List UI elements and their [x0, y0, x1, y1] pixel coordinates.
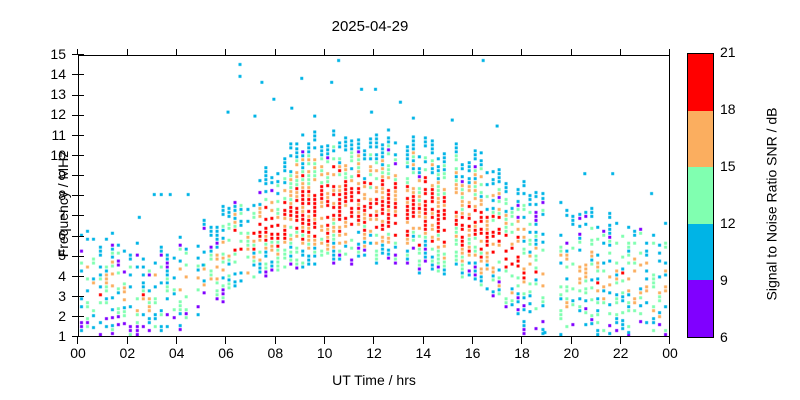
plot-area[interactable] [78, 55, 670, 337]
y-tick-mark-inner [78, 54, 84, 55]
y-tick-mark-inner [78, 195, 84, 196]
x-tick-mark [669, 337, 670, 344]
x-tick-label: 12 [354, 345, 394, 361]
y-tick-mark-inner [78, 135, 84, 136]
x-tick-label: 20 [551, 345, 591, 361]
colorbar-tick-label: 21 [720, 44, 746, 60]
y-tick-mark-inner [78, 115, 84, 116]
x-tick-mark [225, 337, 226, 344]
x-tick-mark [127, 337, 128, 344]
colorbar-band-orange [688, 111, 713, 168]
x-tick-mark [472, 337, 473, 344]
y-tick-mark-inner [78, 95, 84, 96]
x-tick-mark [176, 337, 177, 344]
scatter-data-layer [79, 56, 669, 336]
colorbar-label: Signal to Noise Ratio SNR / dB [764, 62, 780, 347]
x-tick-label: 02 [107, 345, 147, 361]
x-tick-mark [324, 337, 325, 344]
x-axis-label: UT Time / hrs [78, 372, 670, 388]
chart-title: 2025-04-29 [0, 18, 740, 35]
colorbar-band-purple [688, 280, 713, 337]
colorbar[interactable] [687, 53, 714, 338]
y-tick-mark-inner [78, 215, 84, 216]
y-tick-mark-inner [78, 256, 84, 257]
y-tick-mark-inner [78, 74, 84, 75]
x-tick-label: 06 [206, 345, 246, 361]
x-tick-mark-top [127, 49, 128, 55]
x-tick-label: 10 [305, 345, 345, 361]
colorbar-tick-label: 15 [720, 158, 746, 174]
y-tick-mark-inner [78, 316, 84, 317]
x-tick-mark [423, 337, 424, 344]
x-tick-mark-top [324, 49, 325, 55]
x-tick-label: 16 [453, 345, 493, 361]
x-tick-mark-top [472, 49, 473, 55]
x-tick-mark-top [521, 49, 522, 55]
colorbar-tick-label: 6 [720, 329, 746, 345]
x-tick-mark-top [176, 49, 177, 55]
x-tick-mark-top [669, 49, 670, 55]
colorbar-tick-label: 18 [720, 101, 746, 117]
x-tick-mark-top [225, 49, 226, 55]
colorbar-band-green [688, 167, 713, 224]
colorbar-band-red [688, 54, 713, 111]
y-tick-label: 15 [22, 46, 66, 62]
colorbar-band-cyan [688, 224, 713, 281]
x-tick-mark [521, 337, 522, 344]
x-tick-mark [571, 337, 572, 344]
x-tick-mark-top [620, 49, 621, 55]
y-tick-mark-inner [78, 236, 84, 237]
x-tick-mark-top [373, 49, 374, 55]
x-tick-label: 08 [255, 345, 295, 361]
x-tick-label: 00 [650, 345, 690, 361]
x-tick-mark-top [423, 49, 424, 55]
x-tick-label: 18 [502, 345, 542, 361]
y-tick-mark-inner [78, 296, 84, 297]
colorbar-tick-label: 9 [720, 272, 746, 288]
x-tick-label: 00 [58, 345, 98, 361]
x-tick-label: 14 [403, 345, 443, 361]
x-tick-mark-top [275, 49, 276, 55]
x-tick-mark-top [77, 49, 78, 55]
x-tick-mark [77, 337, 78, 344]
x-tick-label: 04 [157, 345, 197, 361]
y-tick-mark-inner [78, 336, 84, 337]
y-tick-mark-inner [78, 155, 84, 156]
y-tick-mark-inner [78, 175, 84, 176]
x-tick-mark [275, 337, 276, 344]
x-tick-mark [620, 337, 621, 344]
spectrogram-figure: 2025-04-29 123456789101112131415 0002040… [0, 0, 800, 400]
y-axis-label: Frequency / MHz [55, 63, 71, 345]
x-tick-label: 22 [601, 345, 641, 361]
colorbar-tick-label: 12 [720, 215, 746, 231]
y-tick-mark-inner [78, 276, 84, 277]
x-tick-mark [373, 337, 374, 344]
x-tick-mark-top [571, 49, 572, 55]
